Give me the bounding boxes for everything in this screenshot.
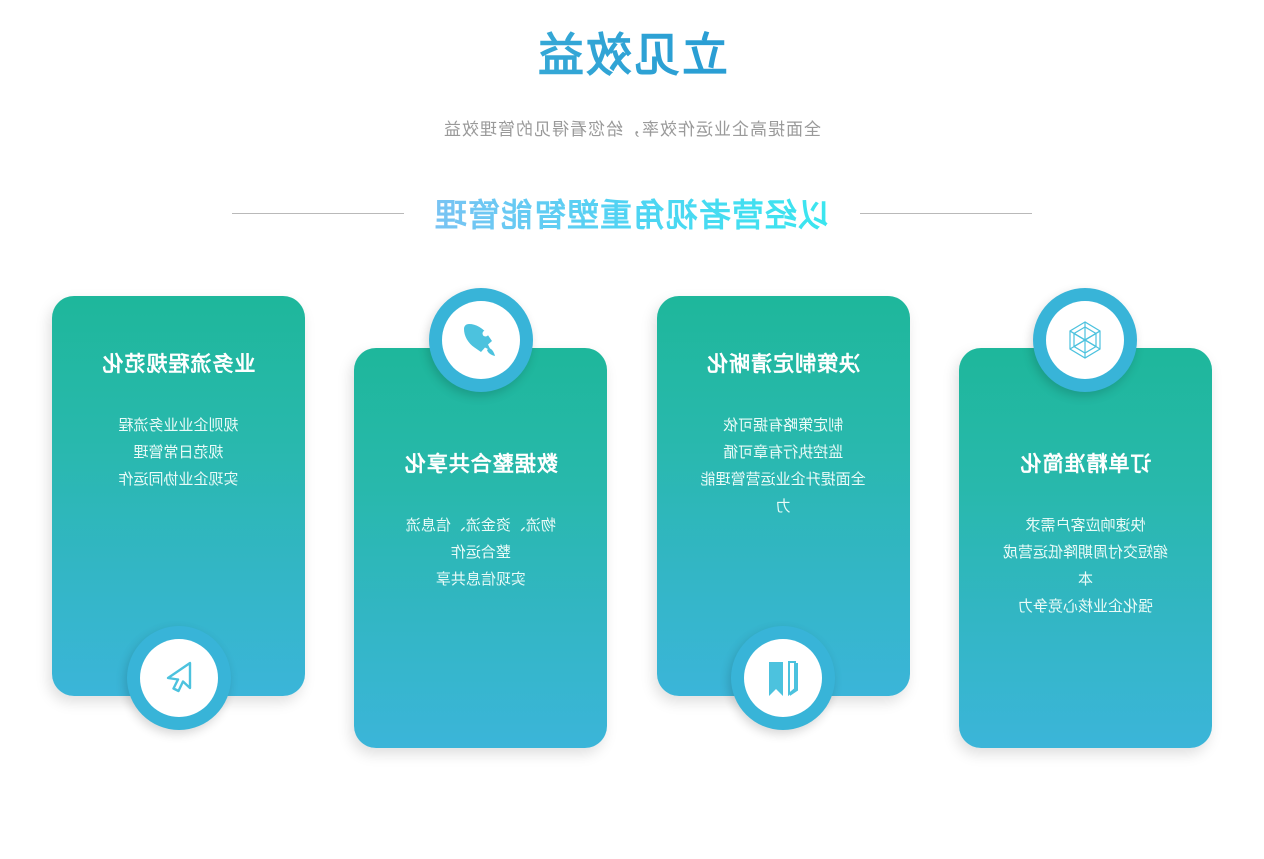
cursor-pointer-icon <box>127 626 231 730</box>
card-title: 决策制定清晰化 <box>675 296 892 378</box>
page-subtitle: 全面提高企业运作效率，给您看得见的管理效益 <box>0 115 1264 140</box>
section-heading-group: 以经营者视角重塑智能管理 <box>0 190 1264 236</box>
icon-circle-inner <box>1047 301 1125 379</box>
divider-left <box>860 213 1032 214</box>
card-body-line: 强化企业核心竞争力 <box>977 593 1194 620</box>
card-body-line: 缩短交付周期降低运营成 <box>977 539 1194 566</box>
card-body: 物流、资金流、信息流 整合运作 实现信息共享 <box>372 478 589 593</box>
page-stage: 立见效益 全面提高企业运作效率，给您看得见的管理效益 以经营者视角重塑智能管理 <box>0 0 1264 859</box>
page-title: 立见效益 <box>0 28 1264 83</box>
card-body-line: 快速响应客户需求 <box>977 512 1194 539</box>
card-surface: 订单精准简化 快速响应客户需求 缩短交付周期降低运营成 本 强化企业核心竞争力 <box>959 348 1212 748</box>
card-body-line: 物流、资金流、信息流 <box>372 512 589 539</box>
card-body-line: 实现企业协同运作 <box>70 466 287 493</box>
icon-circle-inner <box>744 639 822 717</box>
feature-card-list: 订单精准简化 快速响应客户需求 缩短交付周期降低运营成 本 强化企业核心竞争力 <box>52 288 1212 788</box>
card-body-line: 规则企业业务流程 <box>70 412 287 439</box>
card-body-line: 全面提升企业运营管理能 <box>675 466 892 493</box>
section-title: 以经营者视角重塑智能管理 <box>434 190 830 236</box>
icon-circle-inner <box>140 639 218 717</box>
feature-card-4[interactable]: 业务流程规范化 规则企业业务流程 规范日常管理 实现企业协同运作 <box>52 288 305 788</box>
feature-card-1[interactable]: 订单精准简化 快速响应客户需求 缩短交付周期降低运营成 本 强化企业核心竞争力 <box>959 288 1212 788</box>
page-header: 立见效益 全面提高企业运作效率，给您看得见的管理效益 <box>0 0 1264 140</box>
book-bookmark-icon <box>731 626 835 730</box>
card-surface: 数据整合共享化 物流、资金流、信息流 整合运作 实现信息共享 <box>354 348 607 748</box>
card-body: 快速响应客户需求 缩短交付周期降低运营成 本 强化企业核心竞争力 <box>977 478 1194 620</box>
card-title: 业务流程规范化 <box>70 296 287 378</box>
icon-circle-inner <box>442 301 520 379</box>
card-body-line: 本 <box>977 566 1194 593</box>
card-body-line: 规范日常管理 <box>70 439 287 466</box>
card-body-line: 力 <box>675 493 892 520</box>
rocket-icon <box>429 288 533 392</box>
card-body: 制定策略有据可依 监控执行有章可循 全面提升企业运营管理能 力 <box>675 378 892 520</box>
card-body-line: 实现信息共享 <box>372 566 589 593</box>
card-body: 规则企业业务流程 规范日常管理 实现企业协同运作 <box>70 378 287 493</box>
feature-card-2[interactable]: 决策制定清晰化 制定策略有据可依 监控执行有章可循 全面提升企业运营管理能 力 <box>657 288 910 788</box>
card-body-line: 整合运作 <box>372 539 589 566</box>
feature-card-3[interactable]: 数据整合共享化 物流、资金流、信息流 整合运作 实现信息共享 <box>354 288 607 788</box>
card-body-line: 监控执行有章可循 <box>675 439 892 466</box>
divider-right <box>232 213 404 214</box>
card-body-line: 制定策略有据可依 <box>675 412 892 439</box>
hexagon-network-icon <box>1034 288 1138 392</box>
